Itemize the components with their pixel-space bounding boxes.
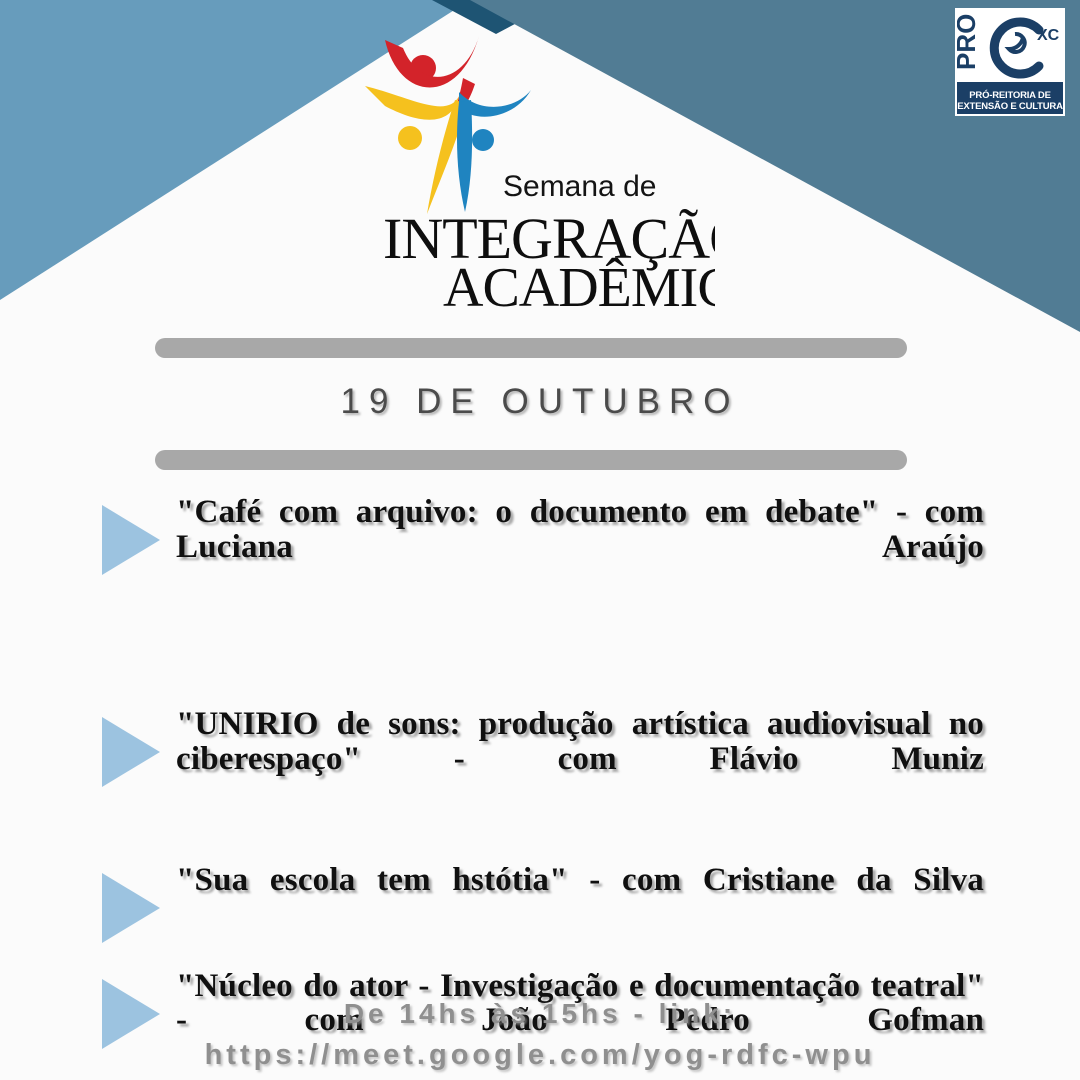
triangle-right-icon [100, 869, 162, 947]
proexc-logo-mark: PRO XC [957, 10, 1063, 82]
session-item: "Café com arquivo: o documento em debate… [0, 495, 1080, 599]
proexc-subtitle-line2: EXTENSÃO E CULTURA [957, 101, 1063, 112]
session-time: De 14hs às 15hs - link: [0, 994, 1080, 1034]
proexc-pro-text: PRO [957, 14, 981, 70]
footer: De 14hs às 15hs - link: https://meet.goo… [0, 994, 1080, 1076]
triangle-right-icon [100, 501, 162, 579]
proexc-logo: PRO XC PRÓ-REITORIA DE EXTENSÃO E CULTUR… [955, 8, 1065, 116]
event-poster: PRO XC PRÓ-REITORIA DE EXTENSÃO E CULTUR… [0, 0, 1080, 1080]
meeting-link[interactable]: https://meet.google.com/yog-rdfc-wpu [0, 1034, 1080, 1076]
event-logo-art: Semana de INTEGRAÇÃO ACADÊMICA [355, 18, 715, 308]
event-logo: Semana de INTEGRAÇÃO ACADÊMICA [355, 18, 715, 308]
triangle-right-icon [100, 713, 162, 791]
date-banner: 19 DE OUTUBRO [0, 330, 1080, 480]
session-title: "UNIRIO de sons: produção artística audi… [176, 707, 984, 811]
proexc-spiral-e-icon [1009, 34, 1025, 52]
banner-bar-top [155, 338, 907, 358]
event-logo-line2: ACADÊMICA [443, 257, 715, 308]
event-logo-kicker: Semana de [503, 170, 656, 203]
session-list: "Café com arquivo: o documento em debate… [0, 495, 1080, 1073]
proexc-subtitle-line1: PRÓ-REITORIA DE [957, 90, 1063, 101]
proexc-mark-art: PRO XC [957, 10, 1063, 82]
session-title: "Sua escola tem hstótia" - com Cristiane… [176, 863, 984, 932]
proexc-xc-text: XC [1037, 27, 1060, 44]
proexc-subtitle: PRÓ-REITORIA DE EXTENSÃO E CULTURA [957, 90, 1063, 112]
session-item: "Sua escola tem hstótia" - com Cristiane… [0, 863, 1080, 947]
banner-bar-bottom [155, 450, 907, 470]
session-item: "UNIRIO de sons: produção artística audi… [0, 707, 1080, 811]
session-title: "Café com arquivo: o documento em debate… [176, 495, 984, 599]
yellow-figure-icon [365, 86, 467, 214]
event-date: 19 DE OUTUBRO [0, 382, 1080, 422]
